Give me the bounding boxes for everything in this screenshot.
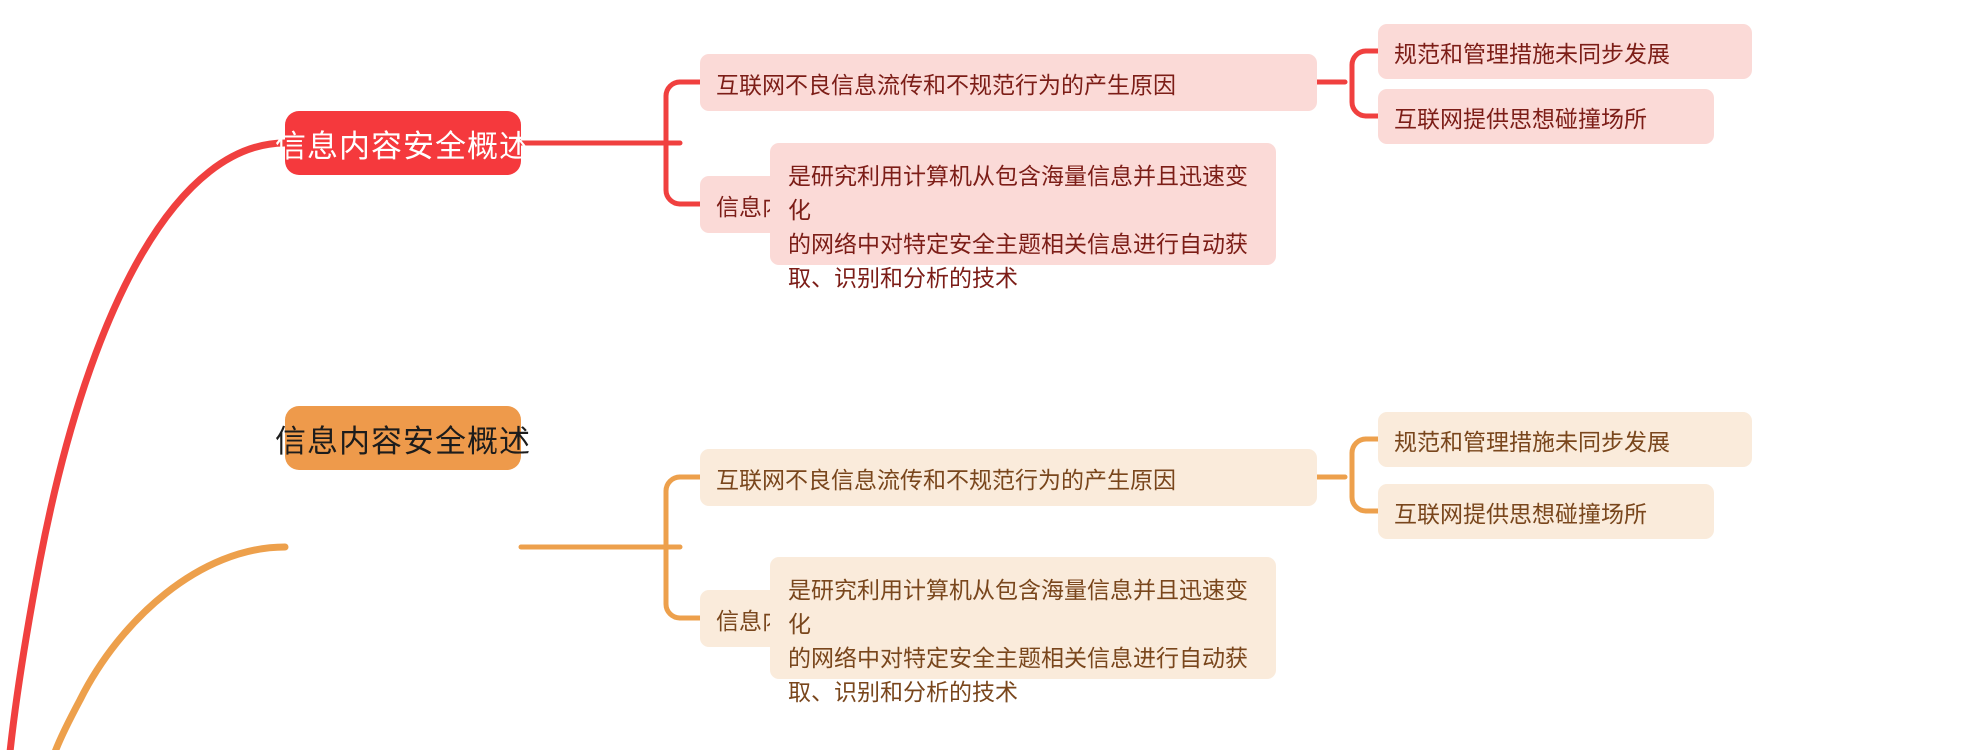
leaf-node-orange-cause-2-label: 互联网提供思想碰撞场所 <box>1394 495 1647 529</box>
orange-trunk-curve <box>55 547 285 750</box>
detail-node-orange-definition-line-1: 是研究利用计算机从包含海量信息并且迅速变化 <box>788 573 1258 641</box>
mindmap-canvas: 信息内容安全概述 互联网不良信息流传和不规范行为的产生原因 规范和管理措施未同步… <box>0 0 1965 750</box>
detail-node-orange-definition[interactable]: 是研究利用计算机从包含海量信息并且迅速变化 的网络中对特定安全主题相关信息进行自… <box>770 557 1276 679</box>
red-bracket <box>666 82 680 204</box>
leaf-node-red-cause-2[interactable]: 互联网提供思想碰撞场所 <box>1378 89 1714 144</box>
detail-node-red-definition-line-1: 是研究利用计算机从包含海量信息并且迅速变化 <box>788 159 1258 227</box>
root-node-red[interactable]: 信息内容安全概述 <box>285 111 521 175</box>
detail-node-red-definition-line-2: 的网络中对特定安全主题相关信息进行自动获 <box>788 227 1258 261</box>
branch-node-red-causes[interactable]: 互联网不良信息流传和不规范行为的产生原因 <box>700 54 1317 111</box>
root-node-orange[interactable]: 信息内容安全概述 <box>285 406 521 470</box>
red-trunk-curve <box>10 143 285 750</box>
leaf-node-red-cause-1-label: 规范和管理措施未同步发展 <box>1394 35 1670 69</box>
orange-bracket <box>666 477 680 618</box>
detail-node-red-definition-line-3: 取、识别和分析的技术 <box>788 261 1258 295</box>
orange-causes-bracket <box>1352 439 1366 511</box>
root-node-orange-label: 信息内容安全概述 <box>275 416 531 461</box>
leaf-node-orange-cause-2[interactable]: 互联网提供思想碰撞场所 <box>1378 484 1714 539</box>
red-causes-bracket <box>1352 51 1366 116</box>
detail-node-orange-definition-line-2: 的网络中对特定安全主题相关信息进行自动获 <box>788 641 1258 675</box>
leaf-node-red-cause-2-label: 互联网提供思想碰撞场所 <box>1394 100 1647 134</box>
detail-node-orange-definition-line-3: 取、识别和分析的技术 <box>788 675 1258 709</box>
leaf-node-red-cause-1[interactable]: 规范和管理措施未同步发展 <box>1378 24 1752 79</box>
root-node-red-label: 信息内容安全概述 <box>275 121 531 166</box>
leaf-node-orange-cause-1-label: 规范和管理措施未同步发展 <box>1394 423 1670 457</box>
branch-node-red-causes-label: 互联网不良信息流传和不规范行为的产生原因 <box>716 66 1176 100</box>
detail-node-red-definition[interactable]: 是研究利用计算机从包含海量信息并且迅速变化 的网络中对特定安全主题相关信息进行自… <box>770 143 1276 265</box>
branch-node-orange-causes-label: 互联网不良信息流传和不规范行为的产生原因 <box>716 461 1176 495</box>
branch-node-orange-causes[interactable]: 互联网不良信息流传和不规范行为的产生原因 <box>700 449 1317 506</box>
leaf-node-orange-cause-1[interactable]: 规范和管理措施未同步发展 <box>1378 412 1752 467</box>
